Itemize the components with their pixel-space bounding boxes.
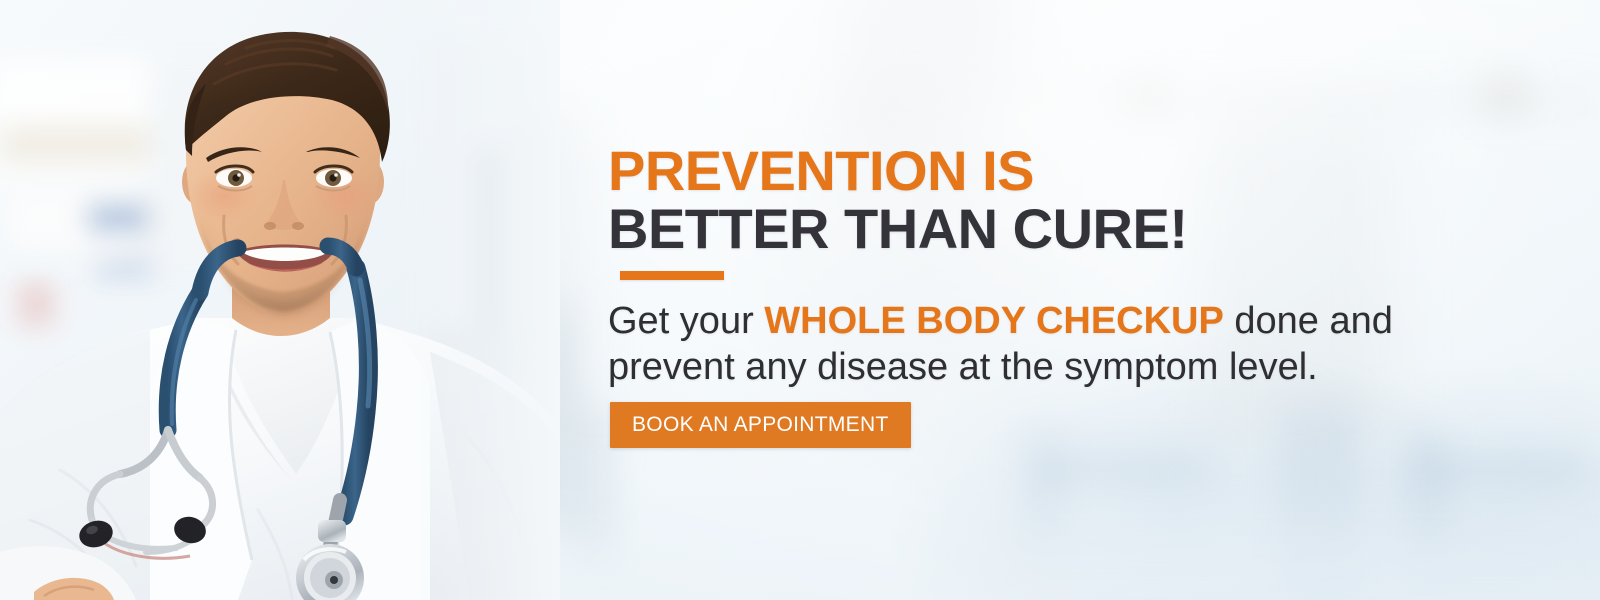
accent-divider: [620, 271, 724, 280]
hero-banner: PREVENTION IS BETTER THAN CURE! Get your…: [0, 0, 1600, 600]
subheading-highlight: WHOLE BODY CHECKUP: [764, 300, 1224, 342]
page-title: PREVENTION IS BETTER THAN CURE!: [608, 142, 1187, 258]
banner-subheading: Get your WHOLE BODY CHECKUP done and pre…: [608, 298, 1508, 390]
headline-line-1: PREVENTION IS: [608, 142, 1187, 200]
banner-copy: PREVENTION IS BETTER THAN CURE! Get your…: [608, 0, 1568, 600]
book-appointment-button[interactable]: BOOK AN APPOINTMENT: [610, 402, 911, 448]
headline-line-2: BETTER THAN CURE!: [608, 200, 1187, 258]
doctor-portrait: [0, 0, 560, 600]
subheading-prefix: Get your: [608, 300, 764, 342]
